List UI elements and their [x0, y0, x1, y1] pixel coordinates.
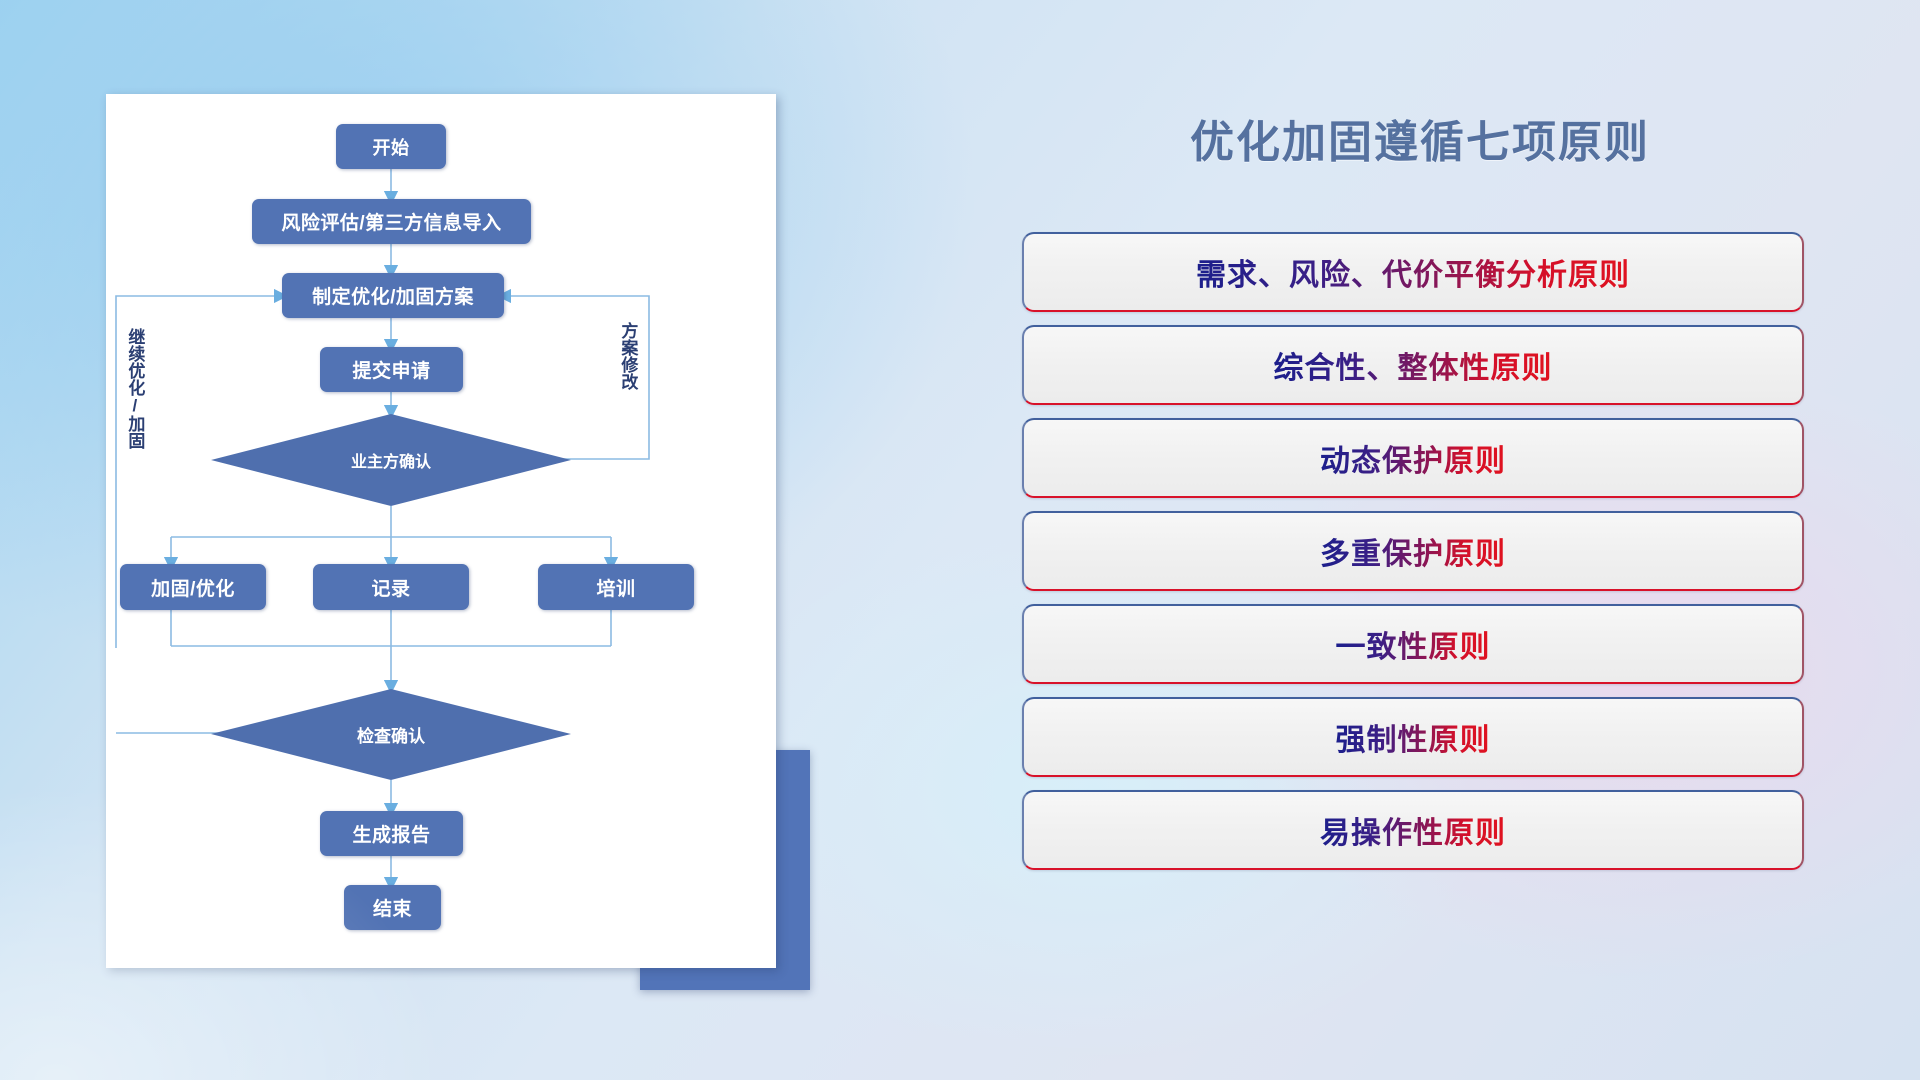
flowchart: 业主方确认 检查确认 开始 风险评估/第三方信息导入 制定优化/加固方案 提交申… — [106, 94, 776, 968]
principles-title: 优化加固遵循七项原则 — [1020, 106, 1820, 170]
node-start[interactable]: 开始 — [336, 124, 446, 169]
principle-label: 综合性、整体性原则 — [1274, 343, 1553, 387]
node-risk-assessment[interactable]: 风险评估/第三方信息导入 — [252, 199, 531, 244]
node-make-plan[interactable]: 制定优化/加固方案 — [282, 273, 504, 318]
decision-check-confirm — [211, 689, 571, 780]
principle-card[interactable]: 易操作性原则 — [1022, 790, 1804, 870]
principle-label: 动态保护原则 — [1320, 436, 1506, 480]
principle-card[interactable]: 需求、风险、代价平衡分析原则 — [1022, 232, 1804, 312]
principle-card[interactable]: 动态保护原则 — [1022, 418, 1804, 498]
node-end[interactable]: 结束 — [344, 885, 441, 930]
flowchart-card: 业主方确认 检查确认 开始 风险评估/第三方信息导入 制定优化/加固方案 提交申… — [106, 94, 776, 968]
principle-card[interactable]: 强制性原则 — [1022, 697, 1804, 777]
edge-label-continue-optimize: 继续优化/加固 — [126, 328, 143, 463]
principle-label: 强制性原则 — [1336, 715, 1491, 759]
principle-label: 一致性原则 — [1336, 622, 1491, 666]
edge-label-plan-revision: 方案修改 — [619, 322, 636, 432]
node-generate-report[interactable]: 生成报告 — [320, 811, 463, 856]
node-reinforce-optimize[interactable]: 加固/优化 — [120, 564, 266, 610]
principle-card[interactable]: 综合性、整体性原则 — [1022, 325, 1804, 405]
slide-root: 业主方确认 检查确认 开始 风险评估/第三方信息导入 制定优化/加固方案 提交申… — [0, 0, 1920, 1080]
principle-label: 多重保护原则 — [1320, 529, 1506, 573]
principle-card[interactable]: 多重保护原则 — [1022, 511, 1804, 591]
node-record[interactable]: 记录 — [313, 564, 469, 610]
principle-card[interactable]: 一致性原则 — [1022, 604, 1804, 684]
node-training[interactable]: 培训 — [538, 564, 694, 610]
principle-label: 需求、风险、代价平衡分析原则 — [1196, 250, 1630, 294]
principle-label: 易操作性原则 — [1320, 808, 1506, 852]
principles-list: 需求、风险、代价平衡分析原则 综合性、整体性原则 动态保护原则 多重保护原则 一… — [1022, 232, 1804, 883]
node-submit-application[interactable]: 提交申请 — [320, 347, 463, 392]
decision-owner-confirm — [211, 414, 571, 506]
